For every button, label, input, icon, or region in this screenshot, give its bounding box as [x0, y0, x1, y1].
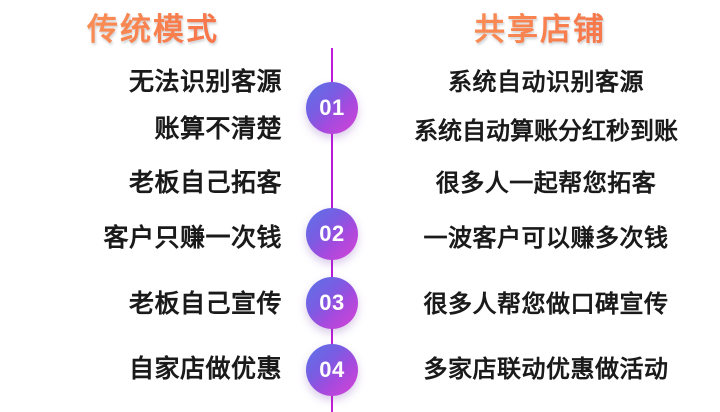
left-item-6: 自家店做优惠	[129, 357, 282, 382]
timeline-node-04: 04	[306, 344, 358, 396]
right-column: 系统自动识别客源 系统自动算账分红秒到账 很多人一起帮您拓客 一波客户可以赚多次…	[372, 0, 720, 412]
right-item-1: 系统自动识别客源	[372, 71, 720, 95]
timeline-node-03-label: 03	[319, 292, 344, 314]
right-item-2: 系统自动算账分红秒到账	[372, 120, 720, 144]
infographic-canvas: 传统模式 共享店铺 无法识别客源 账算不清楚 老板自己拓客 客户只赚一次钱 老板…	[0, 0, 720, 412]
left-column: 无法识别客源 账算不清楚 老板自己拓客 客户只赚一次钱 老板自己宣传 自家店做优…	[0, 0, 300, 412]
left-item-1: 无法识别客源	[129, 70, 282, 95]
right-item-5: 很多人帮您做口碑宣传	[372, 293, 720, 317]
left-item-5: 老板自己宣传	[129, 292, 282, 317]
timeline-node-02-label: 02	[319, 223, 344, 245]
timeline-node-03: 03	[306, 277, 358, 329]
right-item-3: 很多人一起帮您拓客	[372, 172, 720, 196]
right-item-4: 一波客户可以赚多次钱	[372, 227, 720, 251]
timeline-node-01-label: 01	[319, 97, 344, 119]
left-item-3: 老板自己拓客	[129, 171, 282, 196]
timeline-node-04-label: 04	[319, 359, 344, 381]
timeline-node-02: 02	[306, 208, 358, 260]
timeline-node-01: 01	[306, 82, 358, 134]
left-item-4: 客户只赚一次钱	[103, 226, 282, 251]
right-item-6: 多家店联动优惠做活动	[372, 358, 720, 382]
left-item-2: 账算不清楚	[154, 117, 282, 142]
